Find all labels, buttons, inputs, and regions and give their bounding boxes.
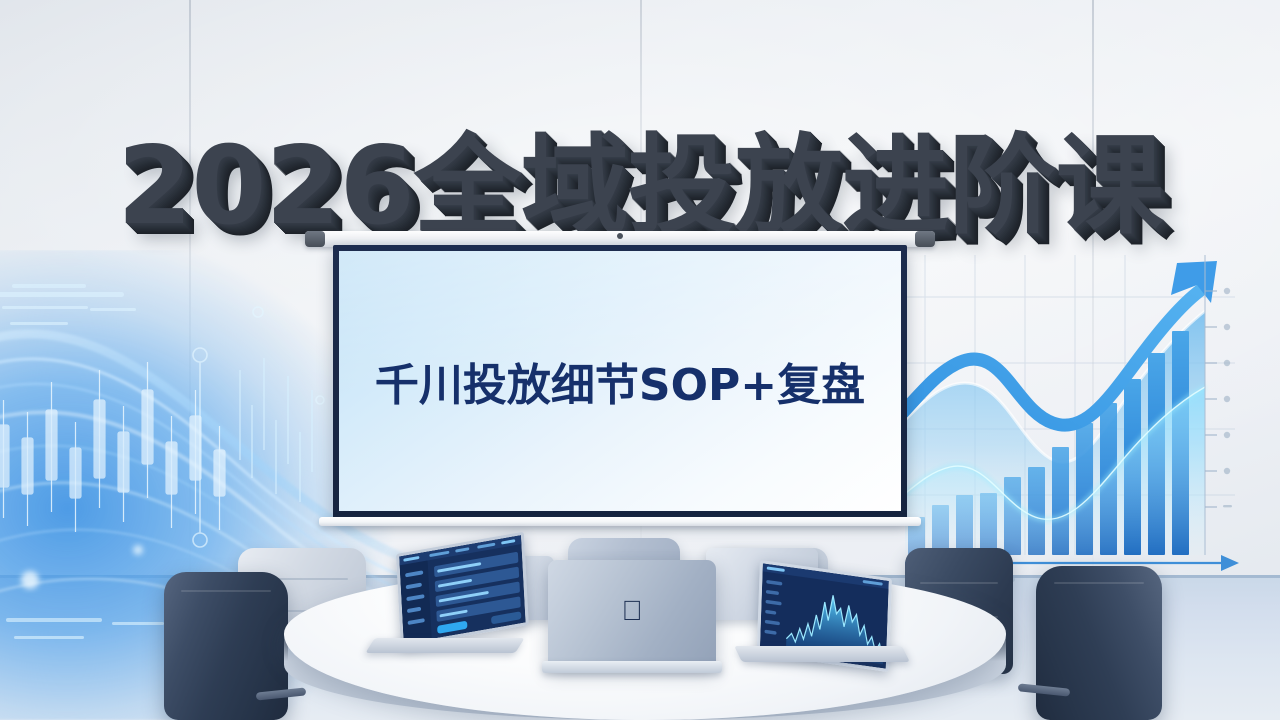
chair-front-left bbox=[160, 572, 292, 720]
apple-logo-icon:  bbox=[619, 596, 645, 626]
screen-weight-bar bbox=[319, 517, 921, 526]
chair-seam bbox=[181, 590, 270, 592]
laptop-base bbox=[365, 638, 524, 653]
roller-end-cap-left bbox=[305, 231, 325, 247]
screen-headline: 千川投放细节SOP+复盘 bbox=[375, 349, 865, 413]
laptop-base bbox=[734, 646, 910, 662]
roller-knob bbox=[617, 233, 623, 239]
roller-end-cap-right bbox=[915, 231, 935, 247]
screen-frame: 千川投放细节SOP+复盘 bbox=[333, 245, 907, 519]
laptop-lid:  bbox=[548, 560, 716, 666]
chair-front-right bbox=[1036, 566, 1170, 720]
laptop-base bbox=[542, 661, 722, 673]
projector-screen: 千川投放细节SOP+复盘 bbox=[305, 231, 935, 531]
chart-y-tick-labels bbox=[1223, 288, 1232, 508]
page-title: 2026全域投放进阶课 bbox=[0, 130, 1280, 244]
poster-canvas: 2026全域投放进阶课 千川投放细节SOP+复盘 bbox=[0, 0, 1280, 720]
laptop-screen-content bbox=[399, 535, 525, 644]
chair-backrest bbox=[1036, 566, 1162, 720]
laptop-right-analytics bbox=[752, 560, 920, 678]
chair-seam bbox=[920, 582, 998, 584]
laptop-left-dashboard bbox=[338, 554, 508, 672]
chair-seam bbox=[1054, 582, 1145, 584]
laptop-center-apple:  bbox=[548, 560, 716, 678]
screen-surface: 千川投放细节SOP+复盘 bbox=[339, 251, 901, 511]
